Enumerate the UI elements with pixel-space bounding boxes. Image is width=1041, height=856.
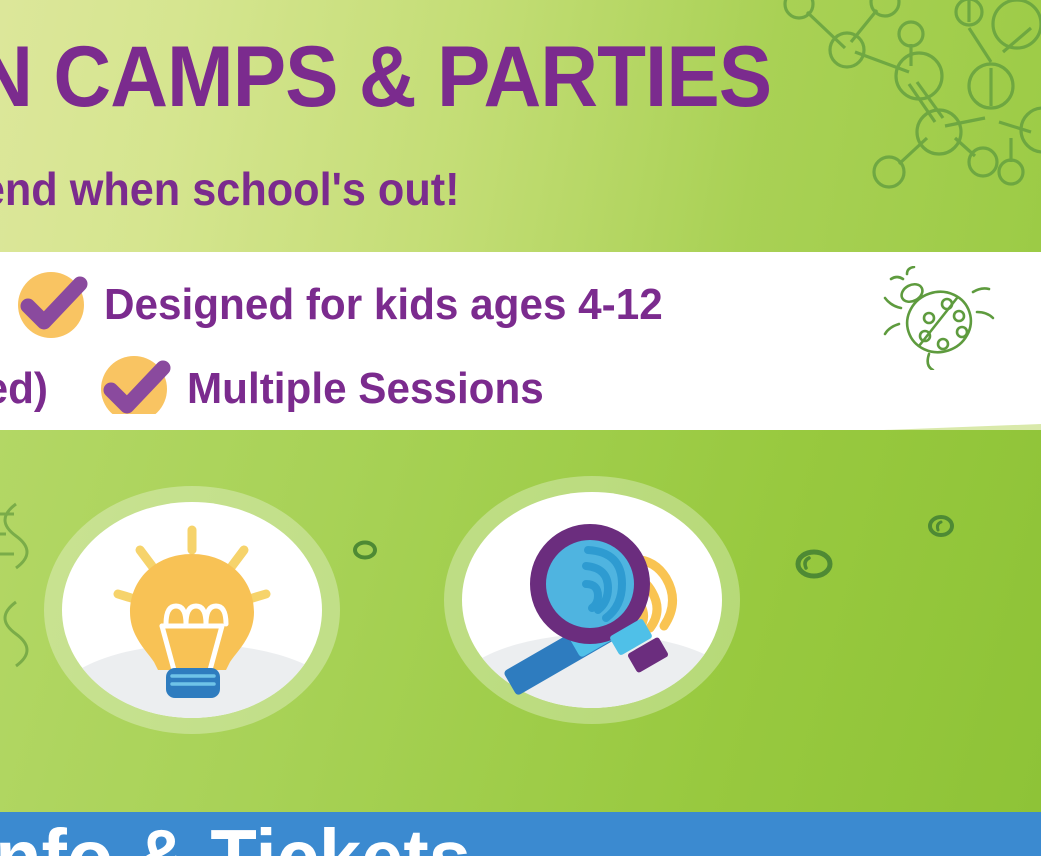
- cell-ring-icon: [794, 548, 834, 580]
- feature-row: ry Designed for kids ages 4-12: [0, 264, 686, 346]
- cell-ring-icon: [352, 540, 378, 560]
- feature-row1-right-text: Designed for kids ages 4-12: [104, 283, 663, 327]
- lightbulb-glyph: [62, 502, 322, 718]
- bulb-glass: [130, 554, 254, 670]
- magnifier-fingerprint-icon[interactable]: [444, 476, 740, 724]
- check-circle-icon: [10, 264, 92, 346]
- cell-ring-icon: [926, 514, 956, 538]
- hero-title: ON CAMPS & PARTIES: [0, 34, 984, 122]
- check-mark-glyph: [93, 348, 175, 430]
- flyer-canvas: ON CAMPS & PARTIES to end when school's …: [0, 0, 1041, 856]
- cta-band[interactable]: lnfo & Tickets: [0, 812, 1041, 856]
- check-circle-icon: [93, 348, 175, 430]
- feature-band: ry Designed for kids ages 4-12 ncluded) …: [0, 252, 1041, 430]
- feature-row: ncluded) Multiple Sessions: [0, 348, 559, 430]
- check-mark-glyph: [10, 264, 92, 346]
- hero-subtitle: to end when school's out!: [0, 162, 1009, 216]
- cta-text[interactable]: lnfo & Tickets: [0, 818, 1041, 856]
- hero-section: ON CAMPS & PARTIES to end when school's …: [0, 0, 1041, 252]
- feature-row2-right-text: Multiple Sessions: [187, 367, 544, 411]
- magnifier-glyph: [462, 492, 722, 708]
- lightbulb-icon[interactable]: [44, 486, 340, 734]
- feature-row2-left-text: ncluded): [0, 367, 48, 411]
- icon-section: [0, 430, 1041, 812]
- dna-helix-icon: [0, 484, 36, 674]
- ladybug-icon: [879, 266, 995, 370]
